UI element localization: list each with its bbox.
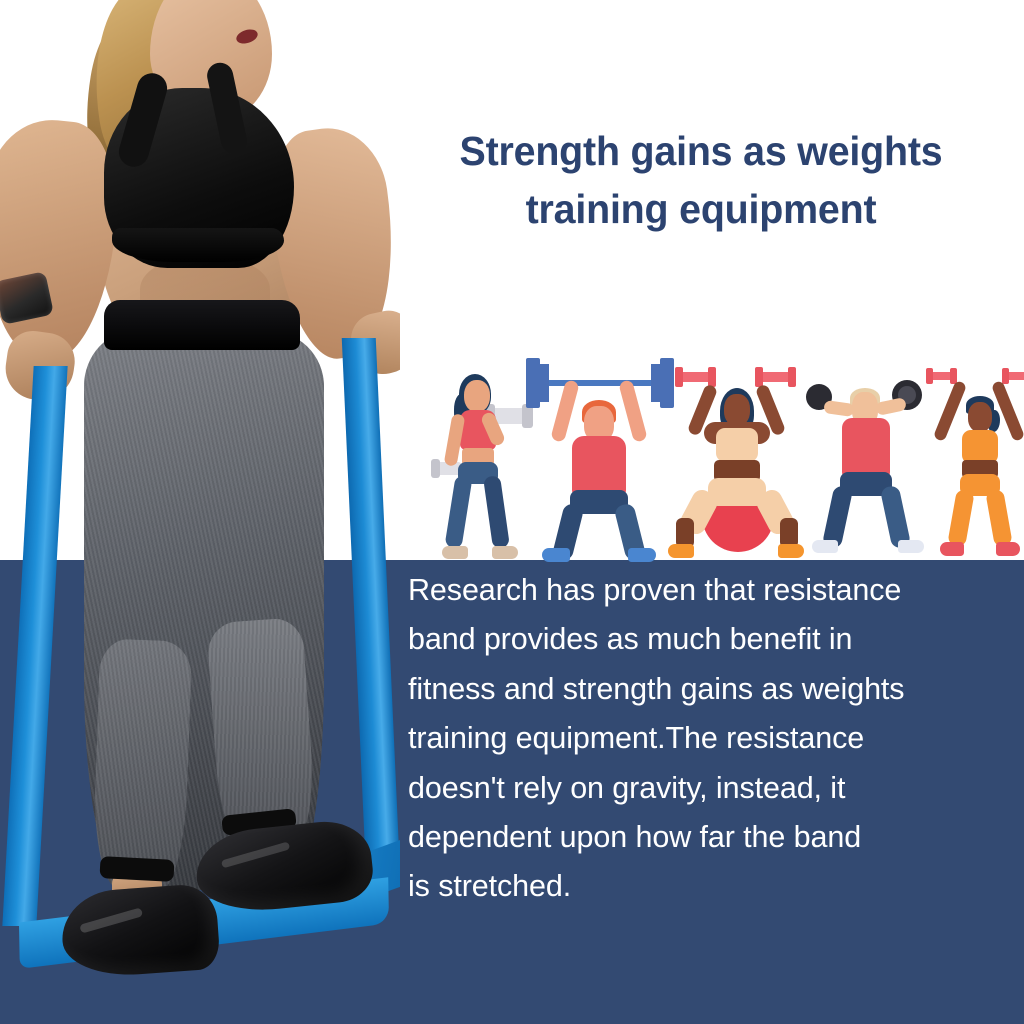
dumbbell-plate-icon (708, 367, 716, 387)
figure-leg (444, 475, 472, 549)
figure-shoe (542, 548, 570, 562)
figure-shoe (898, 540, 924, 553)
dumbbell-icon (678, 372, 712, 382)
figure-shoe (940, 542, 964, 556)
paragraph-line: is stretched. (408, 862, 1012, 911)
page-title: Strength gains as weights training equip… (404, 122, 997, 238)
figure-torso (572, 436, 626, 498)
figure-head (464, 380, 490, 412)
figure-shoe (812, 540, 838, 553)
figure-arm (618, 379, 648, 443)
dumbbell-plate-icon (1002, 368, 1009, 384)
paragraph-line: dependent upon how far the band (408, 813, 1012, 862)
dumbbell-icon (758, 372, 792, 382)
figure-woman-exercise-ball-press (666, 362, 806, 562)
figure-arm (550, 379, 580, 443)
barbell-plate-icon (651, 364, 662, 402)
figure-leg (985, 489, 1012, 547)
figure-top (962, 430, 998, 464)
model-left-shoe (59, 883, 221, 980)
dumbbell-plate-icon (788, 367, 796, 387)
figure-torso (842, 418, 890, 480)
paragraph-line: band provides as much benefit in (408, 615, 1012, 664)
figure-shoe (628, 548, 656, 562)
headline-line-2: training equipment (526, 186, 877, 232)
figure-top (716, 428, 758, 462)
model-bra-band (112, 228, 284, 262)
body-paragraph: Research has proven that resistance band… (408, 566, 1012, 912)
figure-arm (933, 380, 967, 442)
figure-man-shoulder-press (806, 362, 936, 562)
model-left-shin (92, 638, 193, 891)
model-legging-cuff (99, 856, 174, 882)
headline-line-1: Strength gains as weights (460, 128, 943, 174)
figure-head (968, 402, 992, 432)
dumbbell-plate-icon (926, 368, 933, 384)
figure-leg (947, 489, 974, 547)
barbell-bar-icon (534, 380, 666, 386)
barbell-plate-icon (538, 364, 549, 402)
figure-woman-overhead-raise (926, 366, 1024, 562)
infographic-canvas: Strength gains as weights training equip… (0, 0, 1024, 1024)
paragraph-line: training equipment.The resistance (408, 714, 1012, 763)
exercise-illustration-row (432, 330, 1024, 562)
paragraph-line: Research has proven that resistance (408, 566, 1012, 615)
figure-man-barbell-overhead (524, 344, 674, 562)
figure-shoe (668, 544, 694, 558)
figure-shoe (778, 544, 804, 558)
model-photo (0, 0, 400, 1024)
dumbbell-plate-icon (431, 459, 440, 478)
paragraph-line: fitness and strength gains as weights (408, 665, 1012, 714)
dumbbell-plate-icon (755, 367, 763, 387)
figure-shoe (442, 546, 468, 559)
figure-leg (483, 475, 510, 549)
figure-shoe (996, 542, 1020, 556)
paragraph-line: doesn't rely on gravity, instead, it (408, 764, 1012, 813)
dumbbell-plate-icon (675, 367, 683, 387)
model-waistband (104, 300, 300, 350)
figure-shoe (492, 546, 518, 559)
